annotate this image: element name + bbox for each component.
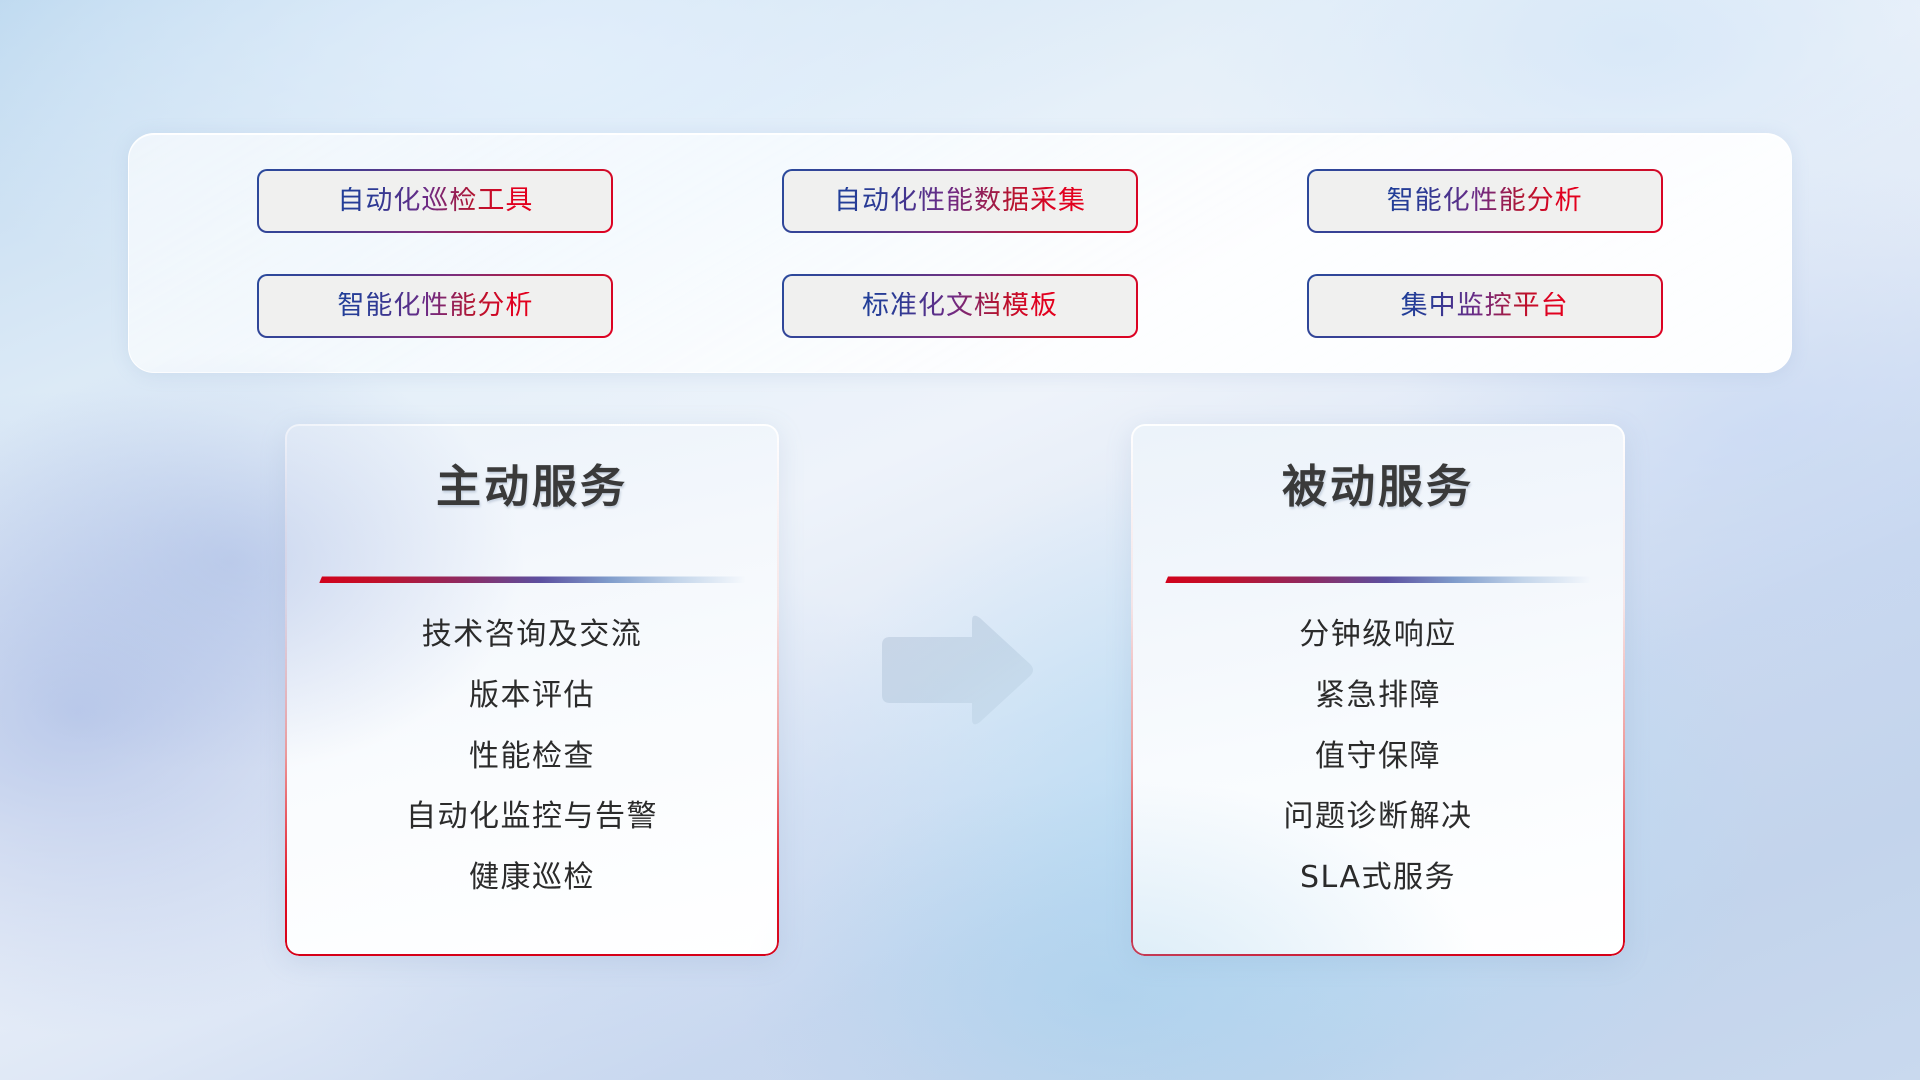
service-card-reactive: 被动服务 分钟级响应 紧急排障 值守保障 问题诊断解决 SLA式服务 xyxy=(1131,424,1625,956)
list-item: 紧急排障 xyxy=(1315,681,1441,711)
capability-tag[interactable]: 标准化文档模板 xyxy=(782,274,1138,338)
card-title: 被动服务 xyxy=(1165,460,1591,513)
capability-tag[interactable]: 集中监控平台 xyxy=(1307,274,1663,338)
service-card-proactive: 主动服务 技术咨询及交流 版本评估 性能检查 自动化监控与告警 健康巡检 xyxy=(285,424,779,956)
list-item: 分钟级响应 xyxy=(1299,620,1457,650)
list-item: 版本评估 xyxy=(469,681,595,711)
capability-tag[interactable]: 智能化性能分析 xyxy=(257,274,613,338)
capability-tag-label: 智能化性能分析 xyxy=(1387,187,1583,214)
capability-tag[interactable]: 智能化性能分析 xyxy=(1307,169,1663,233)
card-divider xyxy=(1165,576,1591,583)
capability-tag[interactable]: 自动化性能数据采集 xyxy=(782,169,1138,233)
capability-tag-label: 标准化文档模板 xyxy=(862,292,1058,319)
card-item-list: 分钟级响应 紧急排障 值守保障 问题诊断解决 SLA式服务 xyxy=(1165,589,1591,930)
list-item: 健康巡检 xyxy=(469,863,595,893)
capability-tag-label: 自动化巡检工具 xyxy=(337,187,533,214)
capability-tags-grid: 自动化巡检工具 自动化性能数据采集 智能化性能分析 智能化性能分析 标准化文档模… xyxy=(129,134,1791,372)
card-divider xyxy=(319,576,745,583)
capability-tag-label: 集中监控平台 xyxy=(1401,292,1569,319)
capability-tag-label: 自动化性能数据采集 xyxy=(834,187,1086,214)
list-item: 问题诊断解决 xyxy=(1284,802,1473,832)
list-item: 技术咨询及交流 xyxy=(422,620,643,650)
list-item: SLA式服务 xyxy=(1300,863,1456,893)
list-item: 自动化监控与告警 xyxy=(406,802,658,832)
slide-canvas: 自动化巡检工具 自动化性能数据采集 智能化性能分析 智能化性能分析 标准化文档模… xyxy=(0,0,1920,1080)
list-item: 值守保障 xyxy=(1315,742,1441,772)
capability-tag-label: 智能化性能分析 xyxy=(337,292,533,319)
card-title: 主动服务 xyxy=(319,460,745,513)
card-item-list: 技术咨询及交流 版本评估 性能检查 自动化监控与告警 健康巡检 xyxy=(319,589,745,930)
capability-tags-panel: 自动化巡检工具 自动化性能数据采集 智能化性能分析 智能化性能分析 标准化文档模… xyxy=(128,133,1792,373)
list-item: 性能检查 xyxy=(469,742,595,772)
arrow-right-icon xyxy=(876,612,1036,730)
capability-tag[interactable]: 自动化巡检工具 xyxy=(257,169,613,233)
